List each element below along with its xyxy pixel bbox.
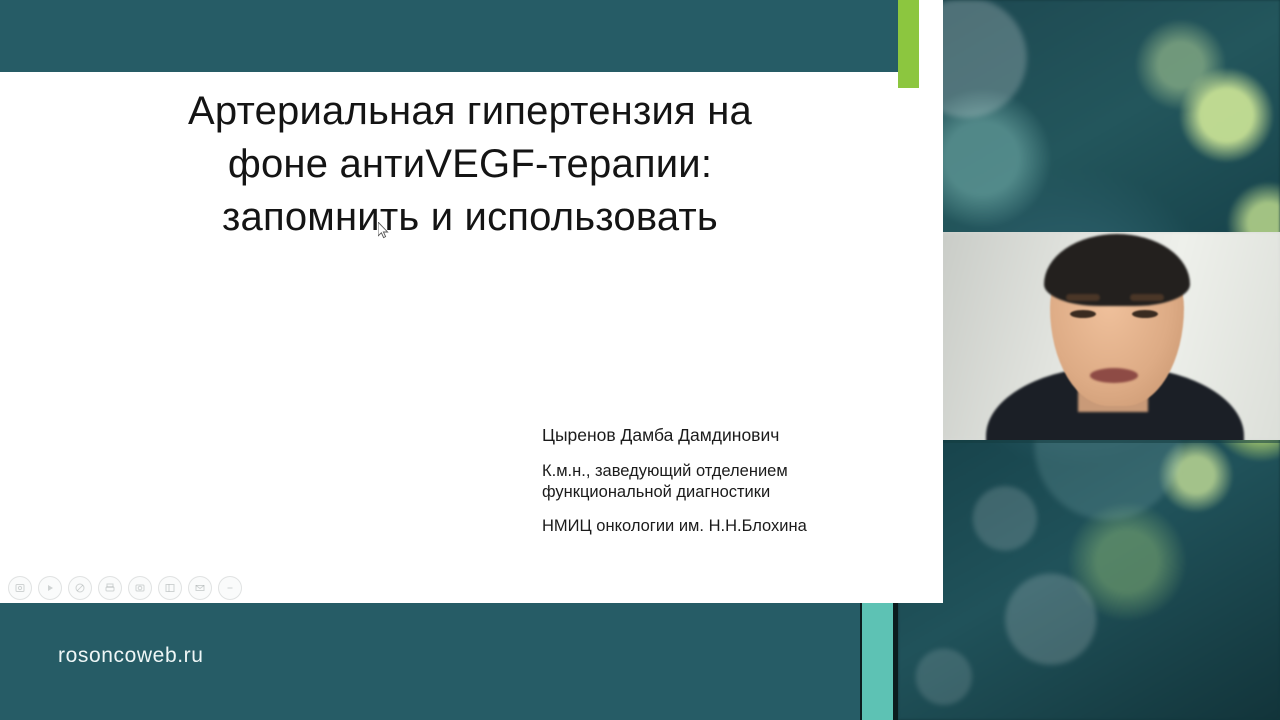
speaker-eyebrow-right xyxy=(1130,294,1164,301)
speaker-eye-right xyxy=(1132,310,1158,318)
minus-icon[interactable] xyxy=(218,576,242,600)
presenter-block: Цыренов Дамба Дамдинович К.м.н., заведую… xyxy=(542,424,922,537)
slide-title-line-1: Артериальная гипертензия на xyxy=(60,85,880,138)
slide-toolbar[interactable] xyxy=(8,576,242,600)
layout-icon[interactable] xyxy=(158,576,182,600)
footer-website-url: rosoncoweb.ru xyxy=(58,644,204,668)
play-icon[interactable] xyxy=(38,576,62,600)
slide-header-band xyxy=(0,0,898,72)
no-entry-icon[interactable] xyxy=(68,576,92,600)
print-icon[interactable] xyxy=(98,576,122,600)
presenter-role-line-1: К.м.н., заведующий отделением xyxy=(542,461,922,482)
video-panel[interactable] xyxy=(898,0,1280,720)
webinar-viewport: Артериальная гипертензия на фоне антиVEG… xyxy=(0,0,1280,720)
speaker-mouth xyxy=(1090,368,1138,383)
presentation-slide[interactable]: Артериальная гипертензия на фоне антиVEG… xyxy=(0,0,943,603)
camera-icon[interactable] xyxy=(128,576,152,600)
slide-title-line-2: фоне антиVEGF-терапии: xyxy=(60,138,880,191)
presenter-role: К.м.н., заведующий отделением функционал… xyxy=(542,461,922,503)
slide-title-line-3: запомнить и использовать xyxy=(60,191,880,244)
speaker-webcam-thumbnail[interactable] xyxy=(940,232,1280,440)
presenter-organization: НМИЦ онкологии им. Н.Н.Блохина xyxy=(542,516,922,537)
footer-accent-strip xyxy=(862,603,893,720)
webcam-divider xyxy=(940,440,1280,443)
presenter-role-line-2: функциональной диагностики xyxy=(542,482,922,503)
speaker-eyebrow-left xyxy=(1066,294,1100,301)
presenter-name: Цыренов Дамба Дамдинович xyxy=(542,424,922,448)
green-accent-strip xyxy=(898,0,919,88)
slide-title: Артериальная гипертензия на фоне антиVEG… xyxy=(60,85,880,245)
speaker-eye-left xyxy=(1070,310,1096,318)
screenshot-icon[interactable] xyxy=(8,576,32,600)
mail-icon[interactable] xyxy=(188,576,212,600)
